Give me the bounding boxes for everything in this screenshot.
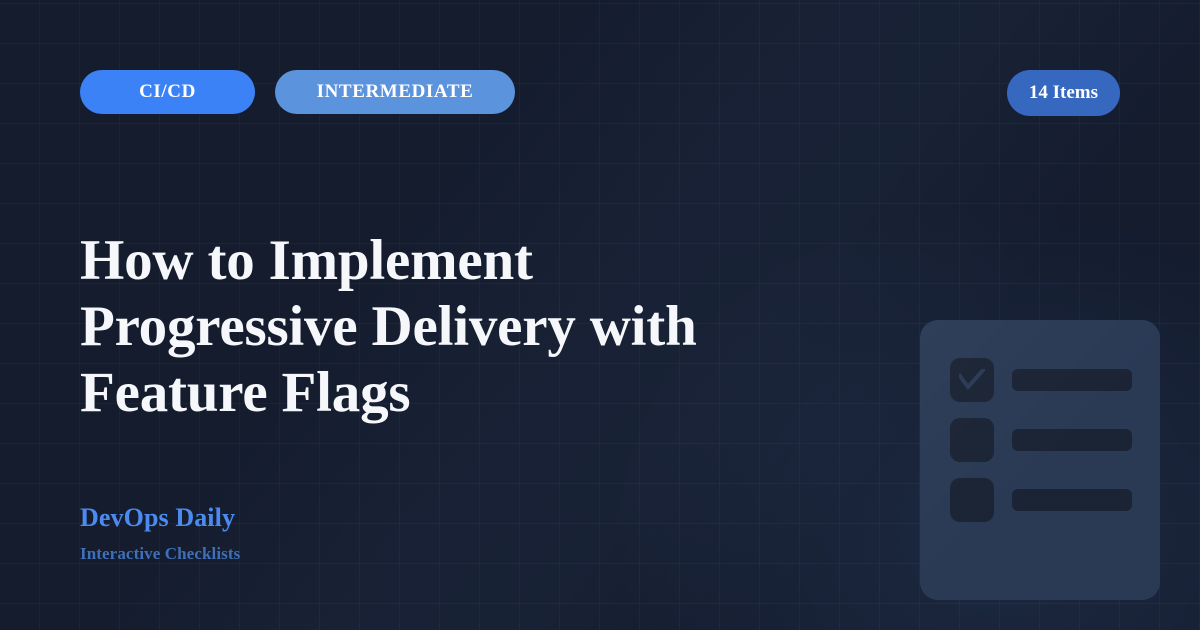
badge-difficulty-level: INTERMEDIATE xyxy=(275,70,515,114)
checkbox-empty-icon xyxy=(950,478,994,522)
brand-block: DevOps Daily Interactive Checklists xyxy=(80,502,240,564)
checklist-row-bar xyxy=(1012,429,1132,451)
checklist-row xyxy=(950,478,1132,522)
checklist-row xyxy=(950,358,1132,402)
badge-category: CI/CD xyxy=(80,70,255,114)
checklist-row-bar xyxy=(1012,369,1132,391)
checklist-illustration-card xyxy=(920,320,1160,600)
social-share-card: CI/CD INTERMEDIATE 14 Items How to Imple… xyxy=(0,0,1200,630)
checklist-row-bar xyxy=(1012,489,1132,511)
page-title: How to Implement Progressive Delivery wi… xyxy=(80,228,820,426)
brand-tagline: Interactive Checklists xyxy=(80,544,240,564)
checklist-rows xyxy=(950,358,1132,522)
badge-item-count: 14 Items xyxy=(1007,70,1120,116)
checklist-row xyxy=(950,418,1132,462)
brand-name: DevOps Daily xyxy=(80,502,240,533)
checkbox-empty-icon xyxy=(950,418,994,462)
checkbox-checked-icon xyxy=(950,358,994,402)
badge-row: CI/CD INTERMEDIATE xyxy=(80,70,515,114)
